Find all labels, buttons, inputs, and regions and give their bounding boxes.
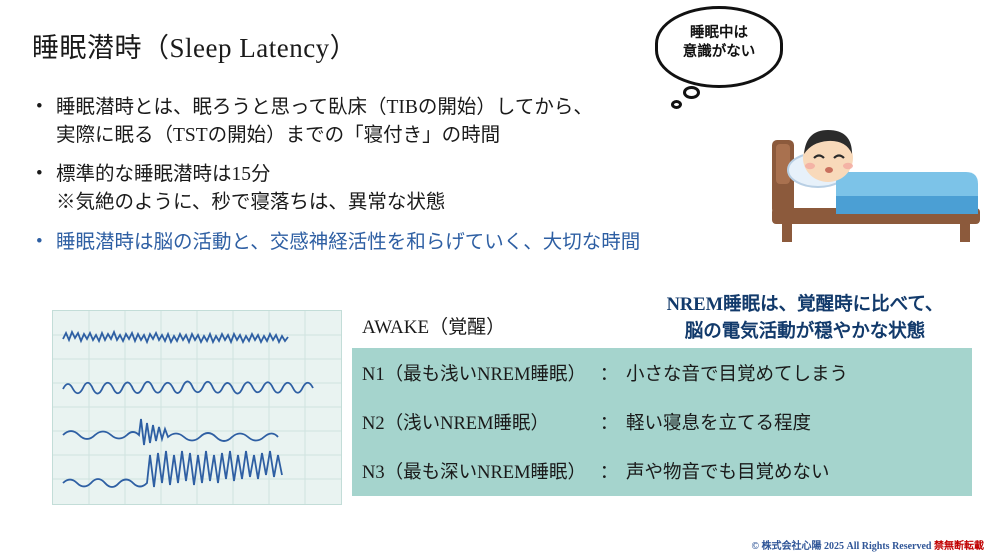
footer-copyright: © 株式会社心陽 2025 All Rights Reserved 禁無断転載 <box>752 537 984 552</box>
stage-name: N2（浅いNREM睡眠） <box>352 409 598 435</box>
bullet-dot-icon: • <box>36 229 43 256</box>
bullet-dot-icon: • <box>36 94 43 121</box>
bullet-list: • 睡眠潜時とは、眠ろうと思って臥床（TIBの開始）してから、 実際に眠る（TS… <box>34 94 674 268</box>
thought-bubble-line-1: 睡眠中は <box>655 24 783 43</box>
eeg-chart-panel <box>52 310 342 505</box>
nrem-note-line-1: NREM睡眠は、覚醒時に比べて、 <box>610 292 1000 319</box>
eeg-grid <box>53 311 341 504</box>
bullet-line-2: ※気絶のように、秒で寝落ちは、異常な状態 <box>56 189 674 217</box>
sleep-stage-table: N1（最も浅いNREM睡眠） ： 小さな音で目覚めてしまう N2（浅いNREM睡… <box>352 348 972 496</box>
stage-colon: ： <box>598 409 620 435</box>
table-row: N2（浅いNREM睡眠） ： 軽い寝息を立てる程度 <box>352 397 972 446</box>
list-item: • 睡眠潜時は脳の活動と、交感神経活性を和らげていく、大切な時間 <box>34 229 674 257</box>
stage-colon: ： <box>598 458 620 484</box>
footer-notice-text: 禁無断転載 <box>934 541 984 552</box>
bullet-line-1: 標準的な睡眠潜時は15分 <box>56 164 271 185</box>
bullet-line-1: 睡眠潜時とは、眠ろうと思って臥床（TIBの開始）してから、 <box>56 97 593 118</box>
bullet-line-1: 睡眠潜時は脳の活動と、交感神経活性を和らげていく、大切な時間 <box>56 232 640 253</box>
page-title: 睡眠潜時（Sleep Latency） <box>32 26 357 65</box>
bullet-line-2: 実際に眠る（TSTの開始）までの「寝付き」の時間 <box>56 122 674 150</box>
table-row: N1（最も浅いNREM睡眠） ： 小さな音で目覚めてしまう <box>352 348 972 397</box>
eeg-trace-n2 <box>63 419 278 445</box>
thought-bubble-line-2: 意識がない <box>655 43 783 62</box>
slide-root: 睡眠潜時（Sleep Latency） • 睡眠潜時とは、眠ろうと思って臥床（T… <box>0 0 1000 560</box>
stage-colon: ： <box>598 360 620 386</box>
stage-description: 軽い寝息を立てる程度 <box>620 409 972 435</box>
bullet-dot-icon: • <box>36 161 43 188</box>
eeg-traces <box>53 311 341 504</box>
stage-description: 小さな音で目覚めてしまう <box>620 360 972 386</box>
thought-bubble-tail-large <box>683 86 700 99</box>
sleeping-person-illustration <box>770 96 985 246</box>
nrem-note: NREM睡眠は、覚醒時に比べて、 脳の電気活動が穏やかな状態 <box>610 292 1000 346</box>
stage-name: N1（最も浅いNREM睡眠） <box>352 360 598 386</box>
table-row: N3（最も深いNREM睡眠） ： 声や物音でも目覚めない <box>352 446 972 495</box>
footer-copyright-text: © 株式会社心陽 2025 All Rights Reserved <box>752 541 932 552</box>
eeg-trace-n3 <box>63 451 282 487</box>
list-item: • 標準的な睡眠潜時は15分 ※気絶のように、秒で寝落ちは、異常な状態 <box>34 161 674 216</box>
list-item: • 睡眠潜時とは、眠ろうと思って臥床（TIBの開始）してから、 実際に眠る（TS… <box>34 94 674 149</box>
person-mouth <box>825 167 833 173</box>
thought-bubble: 睡眠中は 意識がない <box>655 6 785 114</box>
stage-description: 声や物音でも目覚めない <box>620 458 972 484</box>
thought-bubble-text: 睡眠中は 意識がない <box>655 24 783 62</box>
stage-name: N3（最も深いNREM睡眠） <box>352 458 598 484</box>
eeg-trace-awake <box>63 332 288 342</box>
thought-bubble-tail-small <box>671 100 682 109</box>
awake-label: AWAKE（覚醒） <box>362 312 505 339</box>
nrem-note-line-2: 脳の電気活動が穏やかな状態 <box>610 319 1000 346</box>
